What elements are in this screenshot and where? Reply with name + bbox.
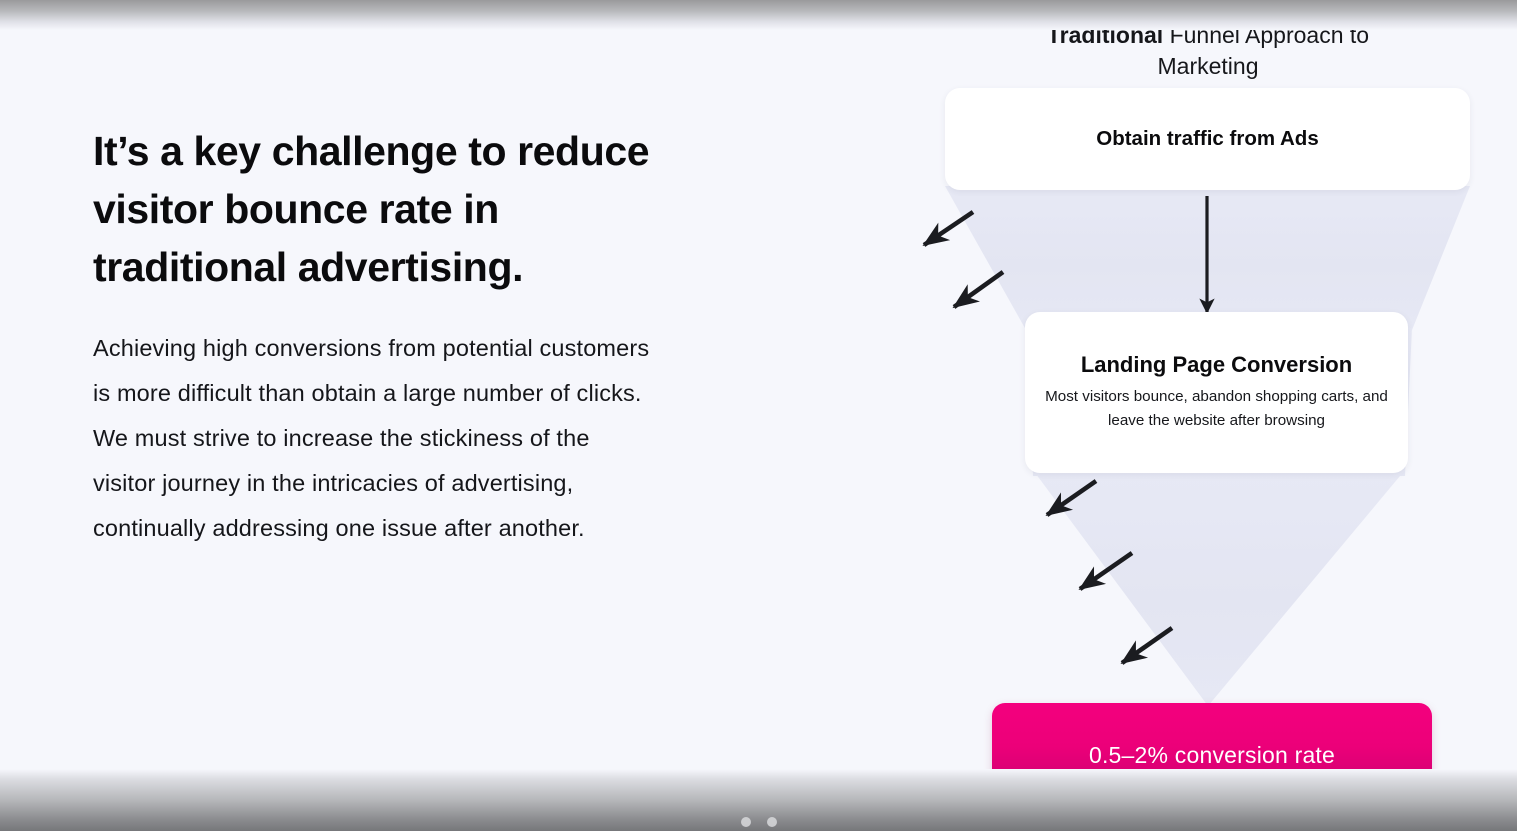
- slide-canvas: It’s a key challenge to reduce visitor b…: [0, 0, 1517, 831]
- pagination-dot[interactable]: [767, 817, 777, 827]
- funnel-stage-middle[interactable]: Landing Page Conversion Most visitors bo…: [1025, 312, 1408, 473]
- conversion-rate-label: 0.5–2% conversion rate: [1089, 742, 1335, 769]
- page-title: It’s a key challenge to reduce visitor b…: [93, 122, 668, 296]
- dropoff-arrow-1: [924, 212, 973, 245]
- left-text-column: It’s a key challenge to reduce visitor b…: [93, 122, 673, 551]
- funnel-stage-top-title: Obtain traffic from Ads: [1096, 127, 1318, 151]
- body-paragraph: Achieving high conversions from potentia…: [93, 326, 658, 551]
- pagination-dot[interactable]: [741, 817, 751, 827]
- funnel-stage-middle-title: Landing Page Conversion: [1081, 352, 1352, 378]
- pagination-dots[interactable]: [0, 817, 1517, 831]
- funnel-lower-triangle: [1033, 470, 1405, 706]
- dropoff-arrow-2: [954, 272, 1003, 307]
- funnel-stage-middle-subtitle: Most visitors bounce, abandon shopping c…: [1039, 385, 1394, 433]
- funnel-stage-top[interactable]: Obtain traffic from Ads: [945, 88, 1470, 190]
- funnel-diagram: Traditional Funnel Approach to Marketing: [900, 0, 1517, 831]
- conversion-rate-badge[interactable]: 0.5–2% conversion rate: [992, 703, 1432, 807]
